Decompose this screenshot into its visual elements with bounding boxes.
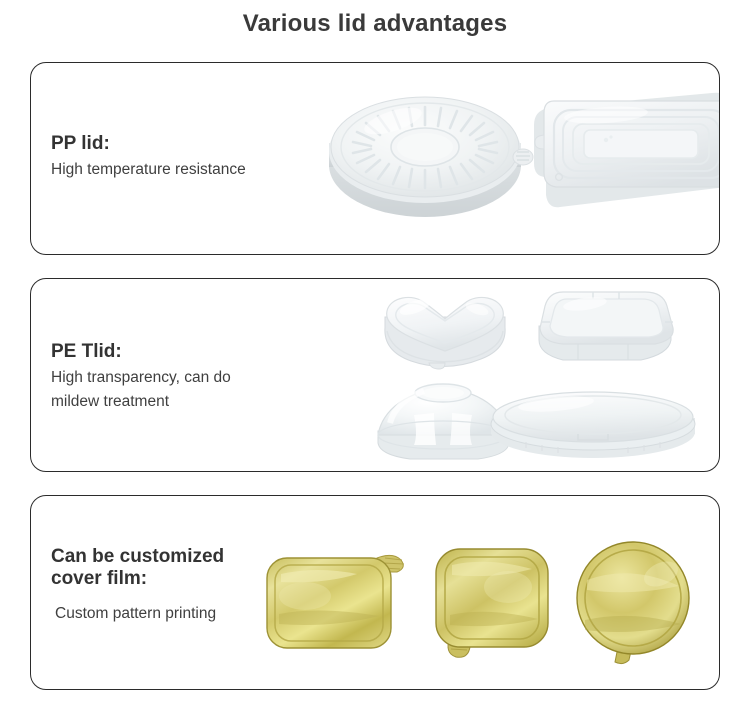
panel-pp-lid: PP lid: High temperature resistance (30, 62, 720, 255)
panel-pe-lid: PE Tlid: High transparency, can do milde… (30, 278, 720, 472)
pe-square-lid-image (523, 282, 688, 372)
panel-pp-text-block: PP lid: High temperature resistance (51, 133, 246, 182)
foil-rectangular-lid-image (259, 544, 419, 659)
pp-rectangular-lid-image (526, 77, 720, 222)
panel-cover-film-heading: Can be customized cover film: (51, 546, 224, 591)
panel-cover-film-body: Custom pattern printing (51, 602, 224, 626)
panel-cover-film: Can be customized cover film: Custom pat… (30, 495, 720, 690)
page-title: Various lid advantages (0, 10, 750, 38)
pe-oval-lid-image (486, 384, 701, 464)
panel-pp-heading: PP lid: (51, 133, 246, 155)
pp-round-lid-image (321, 85, 541, 225)
panel-pp-body: High temperature resistance (51, 158, 246, 182)
foil-square-lid-image (426, 541, 561, 666)
panel-pe-heading: PE Tlid: (51, 341, 231, 363)
lid-advantages-infographic: Various lid advantages PP lid: High temp… (0, 0, 750, 713)
foil-round-lid-image (569, 538, 704, 668)
pe-heart-lid-image (371, 287, 521, 372)
panel-cover-film-text-block: Can be customized cover film: Custom pat… (51, 546, 224, 626)
panel-pe-body: High transparency, can do mildew treatme… (51, 366, 231, 414)
panel-pe-text-block: PE Tlid: High transparency, can do milde… (51, 341, 231, 414)
